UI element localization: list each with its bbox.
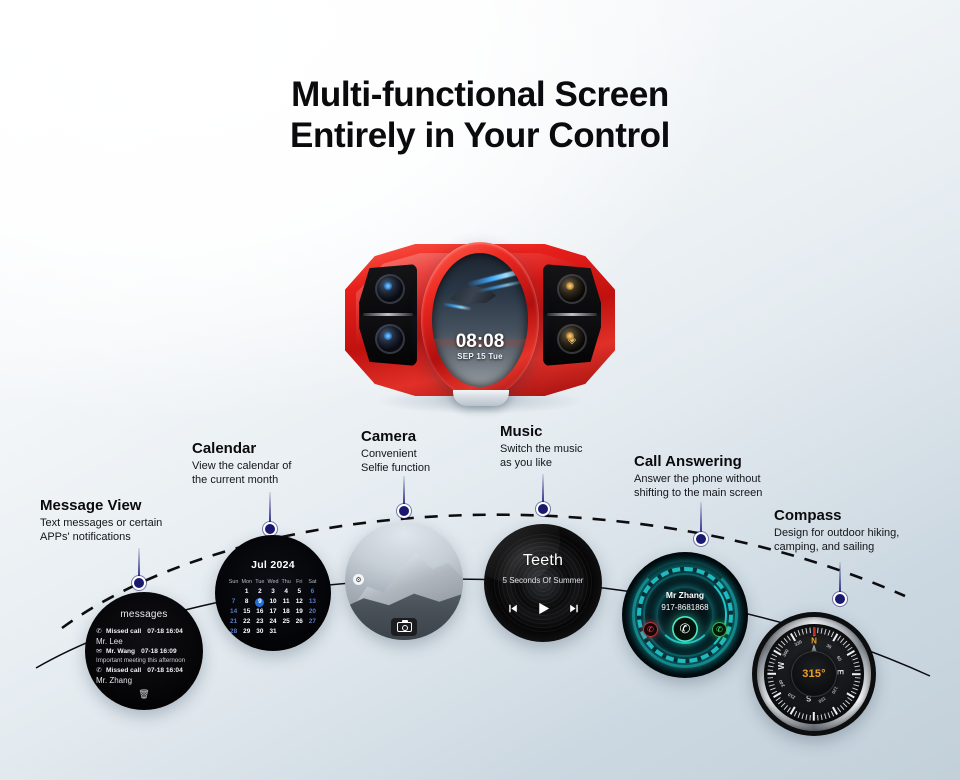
feature-desc-line-2: shifting to the main screen bbox=[634, 487, 762, 501]
feature-label-music: Music Switch the music as you like bbox=[500, 422, 583, 470]
calendar-day-cell[interactable]: 3 bbox=[266, 587, 279, 597]
feature-desc: Convenient Selfie function bbox=[361, 448, 430, 475]
calendar-day-cell[interactable]: 22 bbox=[240, 617, 253, 627]
feature-desc-line-1: View the calendar of bbox=[192, 460, 291, 474]
feature-label-calendar: Calendar View the calendar of the curren… bbox=[192, 439, 291, 487]
pin-dot[interactable] bbox=[833, 592, 847, 606]
calendar-day-cell[interactable]: 13 bbox=[306, 597, 319, 607]
watch-button-dial-top-right[interactable] bbox=[557, 274, 587, 304]
feature-desc-line-2: the current month bbox=[192, 474, 291, 488]
pin-dot[interactable] bbox=[132, 576, 146, 590]
calendar-blank-cell bbox=[227, 587, 240, 597]
calendar-day-cell[interactable]: 18 bbox=[280, 607, 293, 617]
calendar-weekday-header: Fri bbox=[293, 577, 306, 587]
feature-title: Camera bbox=[361, 427, 430, 446]
feature-label-call-answering: Call Answering Answer the phone without … bbox=[634, 452, 762, 500]
feature-desc-line-1: Text messages or certain bbox=[40, 517, 162, 531]
phone-decline-icon[interactable]: ✆ bbox=[643, 622, 658, 637]
call-caller-number: 917-8681868 bbox=[622, 603, 748, 612]
play-icon[interactable] bbox=[535, 600, 552, 617]
phone-missed-icon: ✆ bbox=[95, 628, 103, 636]
calendar-day-cell[interactable]: 10 bbox=[266, 597, 279, 607]
skip-next-icon[interactable] bbox=[568, 602, 581, 615]
calendar-day-cell[interactable]: 8 bbox=[240, 597, 253, 607]
calendar-day-cell[interactable]: 2 bbox=[253, 587, 266, 597]
message-item[interactable]: ✆ Missed call 07-18 16:04 Mr. Lee bbox=[95, 627, 193, 647]
watch-time: 08:08 bbox=[432, 331, 528, 353]
watch-button-lens-bottom-left[interactable] bbox=[375, 324, 405, 354]
calendar-day-cell[interactable]: 27 bbox=[306, 617, 319, 627]
calendar-day-cell[interactable]: 1 bbox=[240, 587, 253, 597]
pin-message-view bbox=[132, 548, 146, 590]
feature-desc-line-2: camping, and sailing bbox=[774, 541, 899, 555]
phone-missed-icon: ✆ bbox=[95, 667, 103, 675]
messages-header: messages bbox=[85, 609, 203, 620]
calendar-weekday-header: Tue bbox=[253, 577, 266, 587]
feature-label-compass: Compass Design for outdoor hiking, campi… bbox=[774, 506, 899, 554]
screen-compass[interactable]: NESW3060120150210240300330 315° bbox=[752, 612, 876, 736]
feature-label-camera: Camera Convenient Selfie function bbox=[361, 427, 430, 475]
compass-face: NESW3060120150210240300330 315° bbox=[764, 624, 863, 723]
calendar-day-cell[interactable]: 23 bbox=[253, 617, 266, 627]
watch-bezel: 08:08 SEP 15 Tue bbox=[421, 242, 539, 398]
feature-desc: Text messages or certain APPs' notificat… bbox=[40, 517, 162, 544]
calendar-day-cell[interactable]: 4 bbox=[280, 587, 293, 597]
calendar-day-cell[interactable]: 12 bbox=[293, 597, 306, 607]
call-action-buttons: ✆ ✆ ✆ bbox=[622, 616, 748, 642]
screen-calendar[interactable]: Jul 2024 SunMonTueWedThuFriSat1234567891… bbox=[215, 535, 331, 651]
feature-title: Calendar bbox=[192, 439, 291, 458]
compass-cardinal-n: N bbox=[811, 636, 817, 645]
pin-stem bbox=[839, 562, 841, 594]
calendar-day-cell[interactable]: 15 bbox=[240, 607, 253, 617]
calendar-day-cell[interactable]: 28 bbox=[227, 627, 240, 637]
message-preview: Important meeting this afternoon bbox=[95, 656, 193, 666]
settings-icon[interactable]: ⚙ bbox=[353, 574, 364, 585]
feature-desc: Design for outdoor hiking, camping, and … bbox=[774, 527, 899, 554]
infographic-canvas: Multi-functional Screen Entirely in Your… bbox=[0, 0, 960, 780]
feature-desc-line-2: APPs' notifications bbox=[40, 531, 162, 545]
message-item[interactable]: ✆ Missed call 07-18 16:04 Mr. Zhang bbox=[95, 666, 193, 686]
watch-right-panel: ◈ bbox=[543, 264, 601, 366]
pin-stem bbox=[700, 502, 702, 534]
feature-title: Call Answering bbox=[634, 452, 762, 471]
phone-accept-icon[interactable]: ✆ bbox=[712, 622, 727, 637]
music-track-title: Teeth bbox=[484, 552, 602, 570]
calendar-day-cell[interactable]: 17 bbox=[266, 607, 279, 617]
watch-left-panel bbox=[359, 264, 417, 366]
message-item[interactable]: ✉ Mr. Wang 07-18 16:09 Important meeting… bbox=[95, 647, 193, 666]
pin-camera bbox=[397, 476, 411, 518]
calendar-day-cell[interactable]: 25 bbox=[280, 617, 293, 627]
feature-desc-line-1: Convenient bbox=[361, 448, 430, 462]
feature-desc-line-1: Design for outdoor hiking, bbox=[774, 527, 899, 541]
feature-desc-line-2: as you like bbox=[500, 457, 583, 471]
pin-call-answering bbox=[694, 502, 708, 546]
calendar-day-cell[interactable]: 9 bbox=[253, 597, 266, 607]
watch-button-lens-top-left[interactable] bbox=[375, 274, 405, 304]
message-time: 07-18 16:09 bbox=[141, 647, 177, 656]
feature-title: Compass bbox=[774, 506, 899, 525]
pin-stem bbox=[138, 548, 140, 578]
feature-desc-line-1: Answer the phone without bbox=[634, 473, 762, 487]
messages-list: ✆ Missed call 07-18 16:04 Mr. Lee ✉ Mr. … bbox=[85, 627, 203, 686]
call-caller-name: Mr Zhang bbox=[622, 590, 748, 600]
compass-heading-value: 315° bbox=[802, 668, 826, 680]
calendar-day-cell[interactable]: 5 bbox=[293, 587, 306, 597]
trash-icon[interactable]: 🗑 bbox=[85, 689, 203, 700]
message-label: Missed call bbox=[106, 666, 141, 675]
panel-divider bbox=[547, 313, 597, 316]
feature-label-message-view: Message View Text messages or certain AP… bbox=[40, 496, 162, 544]
calendar-day-cell[interactable]: 29 bbox=[240, 627, 253, 637]
pin-dot[interactable] bbox=[263, 522, 277, 536]
calendar-weekday-header: Sat bbox=[306, 577, 319, 587]
calendar-day-cell[interactable]: 31 bbox=[266, 627, 279, 637]
title-line-2: Entirely in Your Control bbox=[0, 115, 960, 156]
calendar-day-cell[interactable]: 24 bbox=[266, 617, 279, 627]
calendar-day-cell[interactable]: 26 bbox=[293, 617, 306, 627]
screen-message-view[interactable]: messages ✆ Missed call 07-18 16:04 Mr. L… bbox=[85, 592, 203, 710]
message-contact: Mr. Zhang bbox=[95, 675, 193, 686]
feature-title: Music bbox=[500, 422, 583, 441]
compass-cardinal-w: W bbox=[777, 662, 786, 670]
message-time: 07-18 16:04 bbox=[147, 666, 183, 675]
message-time: 07-18 16:04 bbox=[147, 627, 183, 636]
pin-compass bbox=[833, 562, 847, 606]
message-contact: Mr. Lee bbox=[95, 636, 193, 647]
watch-screen[interactable]: 08:08 SEP 15 Tue bbox=[432, 253, 528, 387]
title-line-1: Multi-functional Screen bbox=[291, 75, 669, 114]
feature-desc-line-2: Selfie function bbox=[361, 462, 430, 476]
page-title: Multi-functional Screen Entirely in Your… bbox=[0, 74, 960, 156]
screen-camera[interactable]: ⚙ bbox=[345, 522, 463, 640]
feature-desc: View the calendar of the current month bbox=[192, 460, 291, 487]
panel-divider bbox=[363, 313, 413, 316]
skip-previous-icon[interactable] bbox=[506, 602, 519, 615]
calendar-day-cell[interactable]: 20 bbox=[306, 607, 319, 617]
envelope-icon: ✉ bbox=[95, 648, 103, 656]
pin-calendar bbox=[263, 492, 277, 536]
calendar-day-cell[interactable]: 16 bbox=[253, 607, 266, 617]
phone-answer-icon[interactable]: ✆ bbox=[672, 616, 698, 642]
music-artist: 5 Seconds Of Summer bbox=[484, 576, 602, 585]
camera-shutter-icon[interactable] bbox=[391, 618, 417, 636]
calendar-weekday-header: Sun bbox=[227, 577, 240, 587]
pin-dot[interactable] bbox=[397, 504, 411, 518]
watch-date: SEP 15 Tue bbox=[432, 352, 528, 361]
feature-title: Message View bbox=[40, 496, 162, 515]
compass-hub: 315° bbox=[791, 651, 837, 697]
pin-dot[interactable] bbox=[694, 532, 708, 546]
calendar-day-cell[interactable]: 11 bbox=[280, 597, 293, 607]
calendar-weekday-header: Mon bbox=[240, 577, 253, 587]
message-label: Mr. Wang bbox=[106, 647, 135, 656]
music-controls bbox=[484, 600, 602, 617]
calendar-day-cell[interactable]: 7 bbox=[227, 597, 240, 607]
calendar-day-cell[interactable]: 14 bbox=[227, 607, 240, 617]
watch-button-dial-bottom-right[interactable]: ◈ bbox=[557, 324, 587, 354]
feature-desc-line-1: Switch the music bbox=[500, 443, 583, 457]
feature-desc: Answer the phone without shifting to the… bbox=[634, 473, 762, 500]
pin-stem bbox=[269, 492, 271, 524]
pin-music bbox=[536, 474, 550, 516]
pin-stem bbox=[403, 476, 405, 506]
calendar-day-cell[interactable]: 21 bbox=[227, 617, 240, 627]
calendar-weekday-header: Wed bbox=[266, 577, 279, 587]
screen-music[interactable]: Teeth 5 Seconds Of Summer bbox=[484, 524, 602, 642]
screen-call-answering[interactable]: Mr Zhang 917-8681868 ✆ ✆ ✆ bbox=[622, 552, 748, 678]
calendar-grid[interactable]: SunMonTueWedThuFriSat1234567891011121314… bbox=[227, 577, 319, 637]
calendar-month-label: Jul 2024 bbox=[215, 559, 331, 571]
calendar-day-cell[interactable]: 6 bbox=[306, 587, 319, 597]
smartwatch-hero: ◈ 08:08 SEP 15 Tue bbox=[345, 238, 615, 413]
diamond-icon: ◈ bbox=[557, 324, 587, 354]
watch-strap-connector bbox=[453, 390, 509, 406]
calendar-day-cell[interactable]: 19 bbox=[293, 607, 306, 617]
calendar-day-cell[interactable]: 30 bbox=[253, 627, 266, 637]
feature-desc: Switch the music as you like bbox=[500, 443, 583, 470]
calendar-weekday-header: Thu bbox=[280, 577, 293, 587]
compass-index-mark bbox=[813, 627, 815, 636]
message-label: Missed call bbox=[106, 627, 141, 636]
pin-stem bbox=[542, 474, 544, 504]
pin-dot[interactable] bbox=[536, 502, 550, 516]
